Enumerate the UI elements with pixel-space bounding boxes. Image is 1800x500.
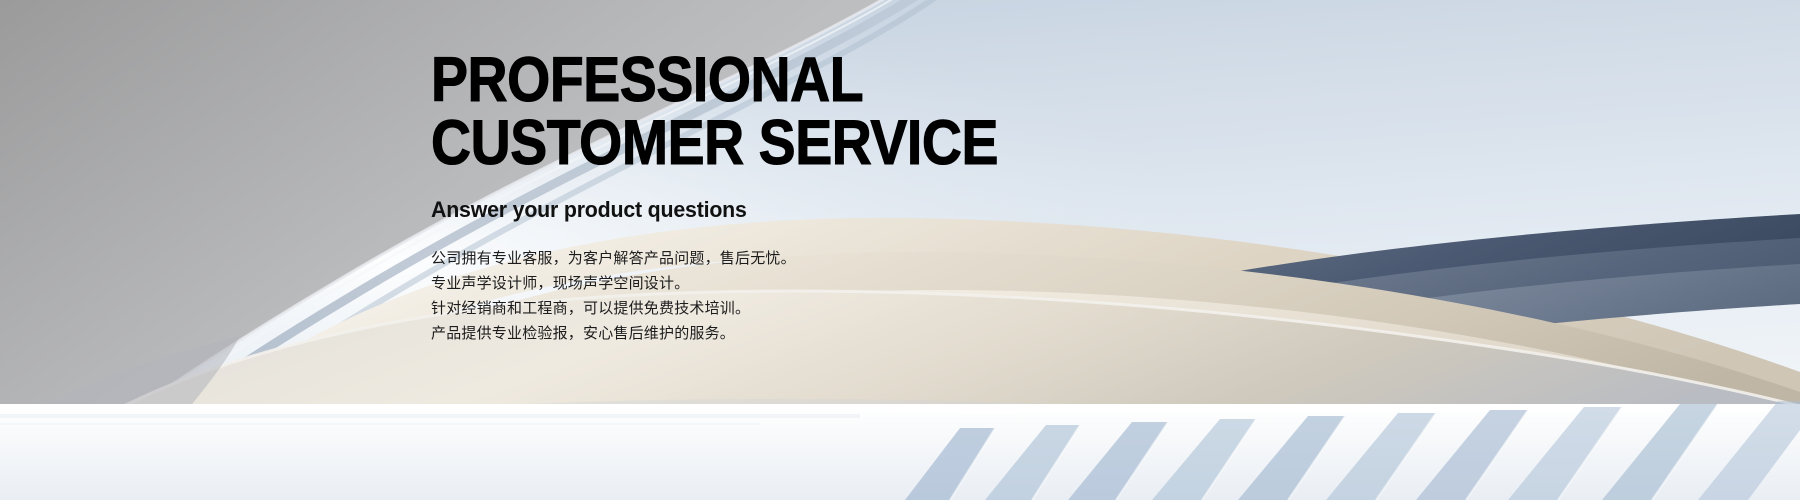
body-text-list: 公司拥有专业客服，为客户解答产品问题，售后无忧。 专业声学设计师，现场声学空间设… (431, 224, 1191, 346)
body-line-3: 针对经销商和工程商，可以提供免费技术培训。 (431, 296, 1191, 321)
headline-line-2: CUSTOMER SERVICE (431, 113, 1100, 174)
banner-content: PROFESSIONAL CUSTOMER SERVICE Answer you… (431, 50, 1191, 346)
body-line-2: 专业声学设计师，现场声学空间设计。 (431, 271, 1191, 296)
body-line-1: 公司拥有专业客服，为客户解答产品问题，售后无忧。 (431, 246, 1191, 271)
headline-line-1: PROFESSIONAL (431, 50, 1100, 111)
banner-root: PROFESSIONAL CUSTOMER SERVICE Answer you… (0, 0, 1800, 500)
body-line-4: 产品提供专业检验报，安心售后维护的服务。 (431, 321, 1191, 346)
subtitle: Answer your product questions (431, 174, 1168, 224)
